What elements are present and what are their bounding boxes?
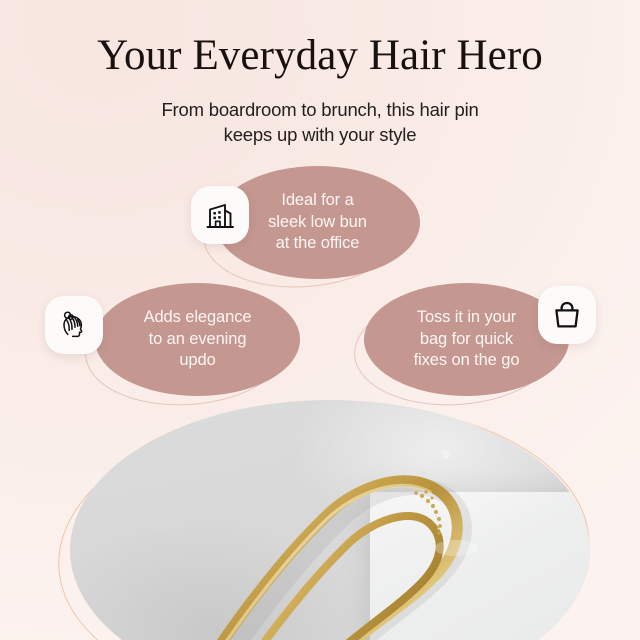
icon-chip-handbag [538,286,596,344]
icon-chip-office [191,186,249,244]
pill-body: Adds elegance to an evening updo [95,283,300,396]
product-photo-section [0,392,640,640]
benefit-line-1: Toss it in your [414,307,520,328]
benefit-line-1: Ideal for a [268,190,367,211]
benefit-line-3: fixes on the go [414,350,520,371]
benefit-text-evening: Adds elegance to an evening updo [128,307,268,371]
icon-chip-updo [45,296,103,354]
benefit-line-3: at the office [268,233,367,254]
benefit-line-3: updo [144,350,252,371]
benefit-line-2: bag for quick [414,329,520,350]
benefit-text-bag: Toss it in your bag for quick fixes on t… [398,307,536,371]
handbag-icon [550,298,584,332]
benefit-text-office: Ideal for a sleek low bun at the office [252,190,383,254]
benefit-line-1: Adds elegance [144,307,252,328]
benefit-line-2: to an evening [144,329,252,350]
subtitle-line-2: keeps up with your style [0,123,640,148]
benefit-pill-evening: Adds elegance to an evening updo [95,283,300,396]
gold-hair-pin-illustration [70,400,590,640]
office-building-icon [203,198,237,232]
product-photo-oval [70,400,590,640]
header-block: Your Everyday Hair Hero From boardroom t… [0,0,640,147]
updo-hairstyle-icon [56,307,92,343]
benefit-line-2: sleek low bun [268,212,367,233]
page-title: Your Everyday Hair Hero [0,0,640,77]
page-subtitle: From boardroom to brunch, this hair pin … [0,98,640,147]
subtitle-line-1: From boardroom to brunch, this hair pin [0,98,640,123]
infographic-canvas: Your Everyday Hair Hero From boardroom t… [0,0,640,640]
